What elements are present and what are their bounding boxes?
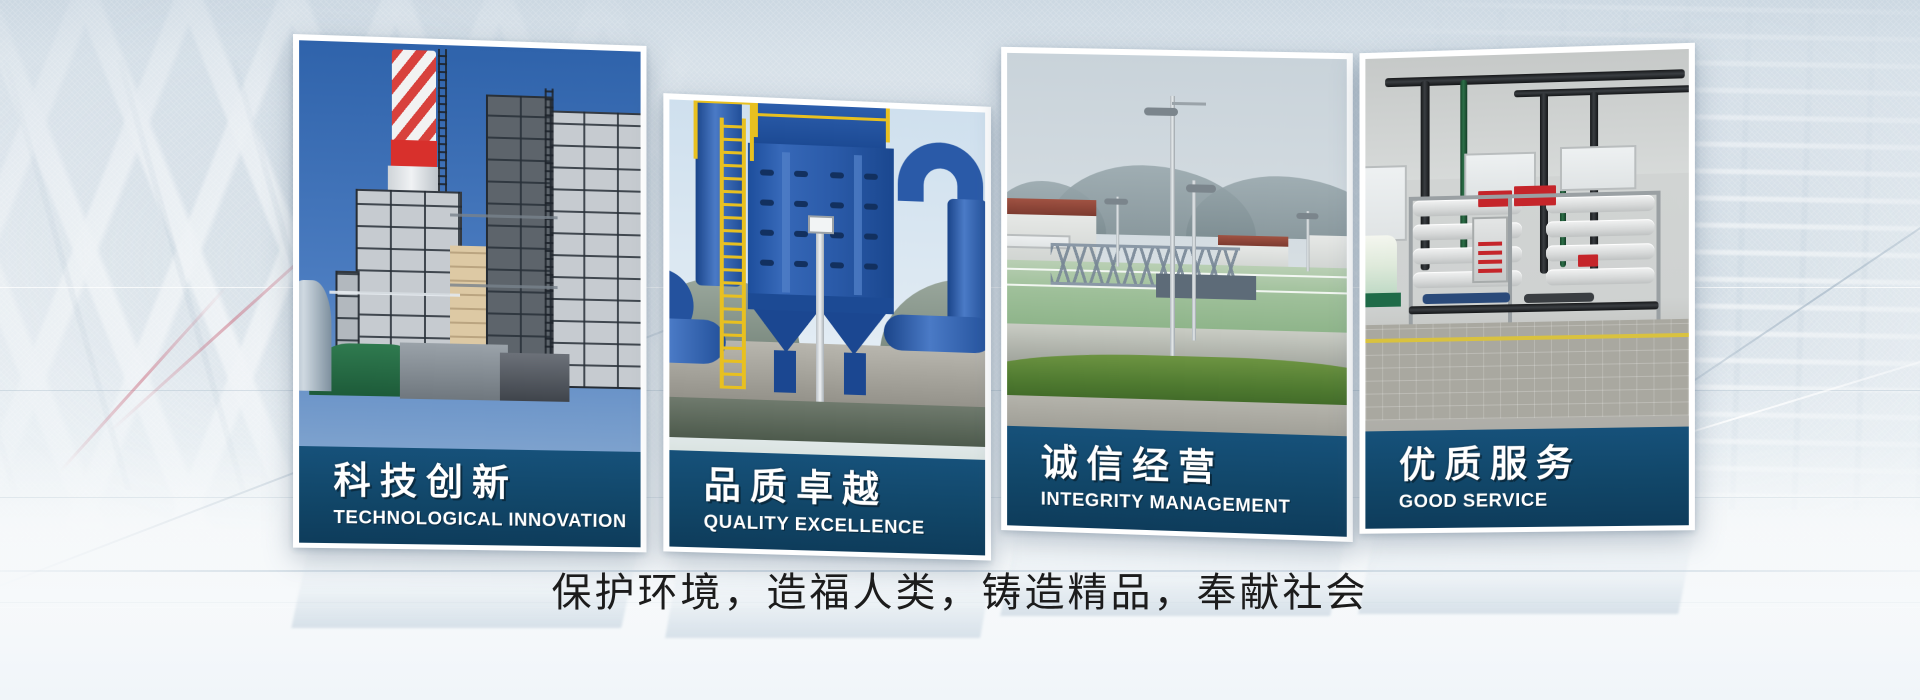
hero-banner: 科技创新 TECHNOLOGICAL INNOVATION <box>0 0 1920 700</box>
panel-title-cn: 优质服务 <box>1399 442 1689 486</box>
panel-integrity-management[interactable]: 诚信经营 INTEGRITY MANAGEMENT <box>1001 47 1353 542</box>
panel-inner: 优质服务 GOOD SERVICE <box>1365 49 1688 529</box>
panel-caption: 品质卓越 QUALITY EXCELLENCE <box>669 450 985 555</box>
panel-title-en: INTEGRITY MANAGEMENT <box>1041 487 1347 520</box>
panel-title-en: TECHNOLOGICAL INNOVATION <box>333 505 640 533</box>
panel-caption: 诚信经营 INTEGRITY MANAGEMENT <box>1007 426 1347 537</box>
panel-caption: 优质服务 GOOD SERVICE <box>1365 427 1688 529</box>
panel-title-cn: 科技创新 <box>333 461 640 506</box>
panel-title-en: GOOD SERVICE <box>1399 486 1689 513</box>
panel-quality-excellence[interactable]: 品质卓越 QUALITY EXCELLENCE <box>663 93 991 560</box>
panel-caption: 科技创新 TECHNOLOGICAL INNOVATION <box>299 446 640 547</box>
panel-title-cn: 品质卓越 <box>704 466 985 514</box>
panel-inner: 品质卓越 QUALITY EXCELLENCE <box>669 99 985 555</box>
panel-title-en: QUALITY EXCELLENCE <box>704 510 985 541</box>
panel-title-cn: 诚信经营 <box>1041 443 1347 493</box>
panel-inner: 诚信经营 INTEGRITY MANAGEMENT <box>1007 53 1347 537</box>
panel-technological-innovation[interactable]: 科技创新 TECHNOLOGICAL INNOVATION <box>293 34 646 552</box>
panel-good-service[interactable]: 优质服务 GOOD SERVICE <box>1359 43 1694 534</box>
banner-slogan: 保护环境，造福人类，铸造精品，奉献社会 <box>0 560 1920 618</box>
panel-inner: 科技创新 TECHNOLOGICAL INNOVATION <box>299 40 640 547</box>
